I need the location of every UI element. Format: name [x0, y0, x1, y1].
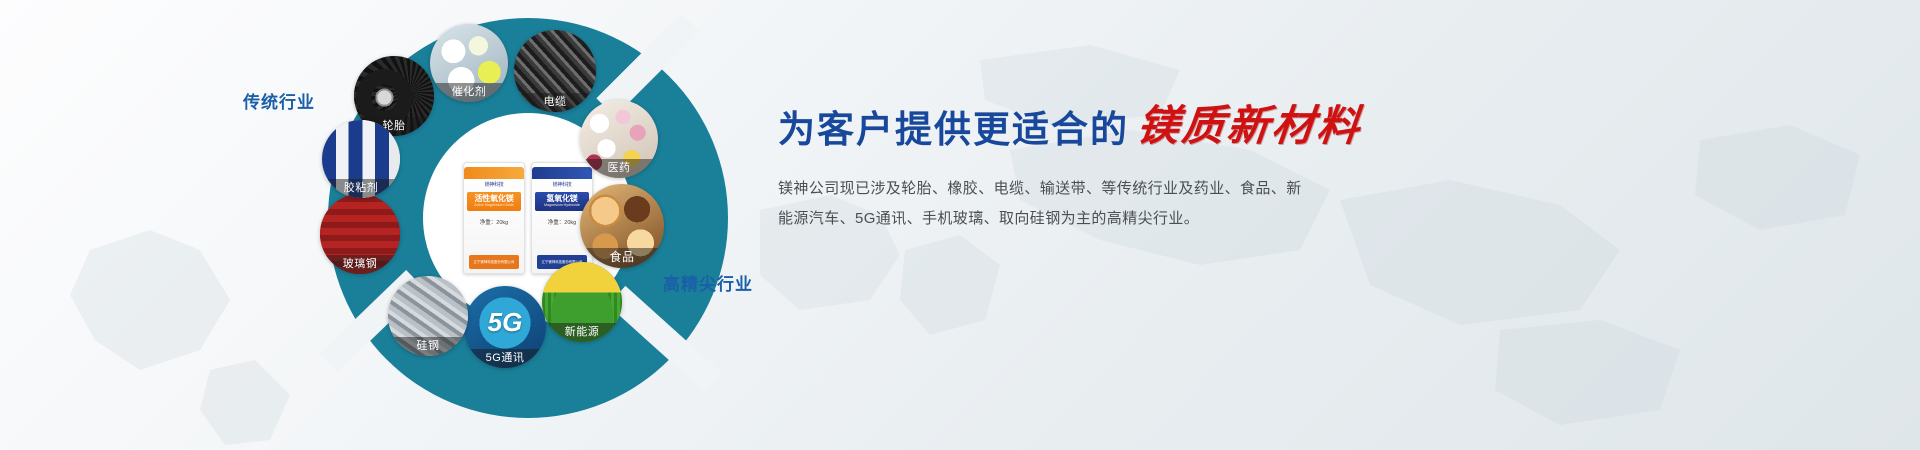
category-catalyst[interactable]: 催化剂	[430, 24, 508, 102]
label-traditional-industries: 传统行业	[243, 88, 315, 113]
product-bag-active-magnesium-oxide: 镁神科技 活性氧化镁 Active Magnesium Oxide 净重：20k…	[463, 162, 525, 274]
copy-block: 为客户提供更适合的 镁质新材料 镁神公司现已涉及轮胎、橡胶、电缆、输送带、等传统…	[778, 106, 1778, 234]
category-label: 5G通讯	[464, 349, 546, 368]
category-frp[interactable]: 玻璃钢	[320, 194, 400, 274]
body-line-1: 镁神公司现已涉及轮胎、橡胶、电缆、输送带、等传统行业及药业、食品、新	[778, 180, 1302, 197]
headline-blue-text: 为客户提供更适合的	[778, 111, 1129, 148]
bag-net-weight: 净重：20kg	[480, 218, 508, 226]
category-label: 医药	[580, 159, 658, 178]
category-medicine[interactable]: 医药	[580, 100, 658, 178]
headline: 为客户提供更适合的 镁质新材料	[778, 106, 1778, 148]
label-advanced-industries: 高精尖行业	[663, 270, 753, 295]
category-food[interactable]: 食品	[580, 184, 664, 268]
bag-company-footer: 辽宁镁神科技股份有限公司	[469, 255, 519, 269]
headline-red-calligraphy: 镁质新材料	[1135, 106, 1364, 148]
category-label: 玻璃钢	[320, 255, 400, 274]
bag-brand-label: 镁神科技	[553, 181, 572, 188]
category-label: 硅钢	[388, 337, 468, 356]
body-line-2: 能源汽车、5G通讯、手机玻璃、取向硅钢为主的高精尖行业。	[778, 210, 1199, 227]
banner-stage: 镁神科技 活性氧化镁 Active Magnesium Oxide 净重：20k…	[0, 0, 1920, 450]
bag-top-stripe	[464, 167, 524, 179]
category-adhesive[interactable]: 胶粘剂	[322, 120, 400, 198]
category-label: 胶粘剂	[322, 179, 400, 198]
category-new-energy[interactable]: 新能源	[542, 262, 622, 342]
body-paragraph: 镁神公司现已涉及轮胎、橡胶、电缆、输送带、等传统行业及药业、食品、新 能源汽车、…	[778, 174, 1418, 234]
bag-net-weight: 净重：20kg	[548, 218, 576, 226]
category-silicon-steel[interactable]: 硅钢	[388, 276, 468, 356]
bag-product-subname: Active Magnesium Oxide	[467, 204, 521, 208]
bag-name-band: 活性氧化镁 Active Magnesium Oxide	[467, 192, 521, 211]
industry-circle-infographic: 镁神科技 活性氧化镁 Active Magnesium Oxide 净重：20k…	[318, 8, 738, 428]
category-label: 催化剂	[430, 83, 508, 102]
bag-brand-label: 镁神科技	[485, 181, 504, 188]
category-label: 新能源	[542, 323, 622, 342]
category-5g[interactable]: 5G 5G通讯	[464, 286, 546, 368]
